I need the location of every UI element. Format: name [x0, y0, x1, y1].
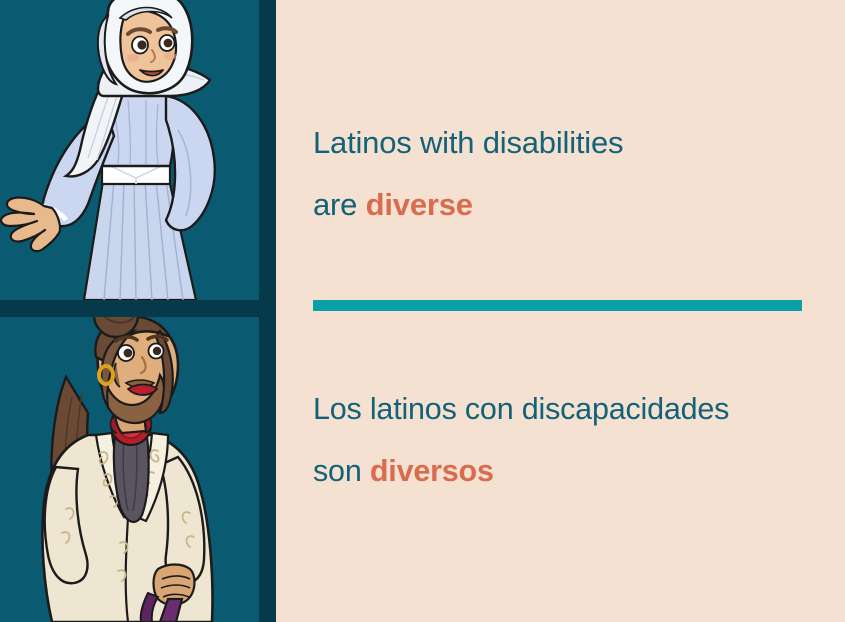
- woman-in-white-hijab-illustration: [0, 0, 259, 300]
- illustration-column: [0, 0, 276, 622]
- spanish-heading-line-2-prefix: son: [313, 454, 370, 488]
- person-in-cream-charro-suit-illustration: [0, 317, 259, 622]
- illustration-panel-top: [0, 0, 259, 300]
- slide: Latinos with disabilities are diverse Lo…: [0, 0, 845, 622]
- english-heading-block: Latinos with disabilities are diverse: [313, 112, 833, 236]
- english-heading-line-2: are diverse: [313, 174, 833, 236]
- section-divider: [313, 300, 802, 311]
- spanish-heading-emphasis: diversos: [370, 454, 494, 488]
- english-heading-emphasis: diverse: [366, 187, 473, 222]
- english-heading-line-2-prefix: are: [313, 187, 366, 222]
- spanish-heading-line-2: son diversos: [313, 440, 833, 502]
- illustration-panel-bottom: [0, 317, 259, 622]
- english-heading-line-1: Latinos with disabilities: [313, 112, 833, 174]
- spanish-heading-line-1: Los latinos con discapacidades: [313, 378, 833, 440]
- text-column: Latinos with disabilities are diverse Lo…: [276, 0, 845, 622]
- spanish-heading-block: Los latinos con discapacidades son diver…: [313, 378, 833, 502]
